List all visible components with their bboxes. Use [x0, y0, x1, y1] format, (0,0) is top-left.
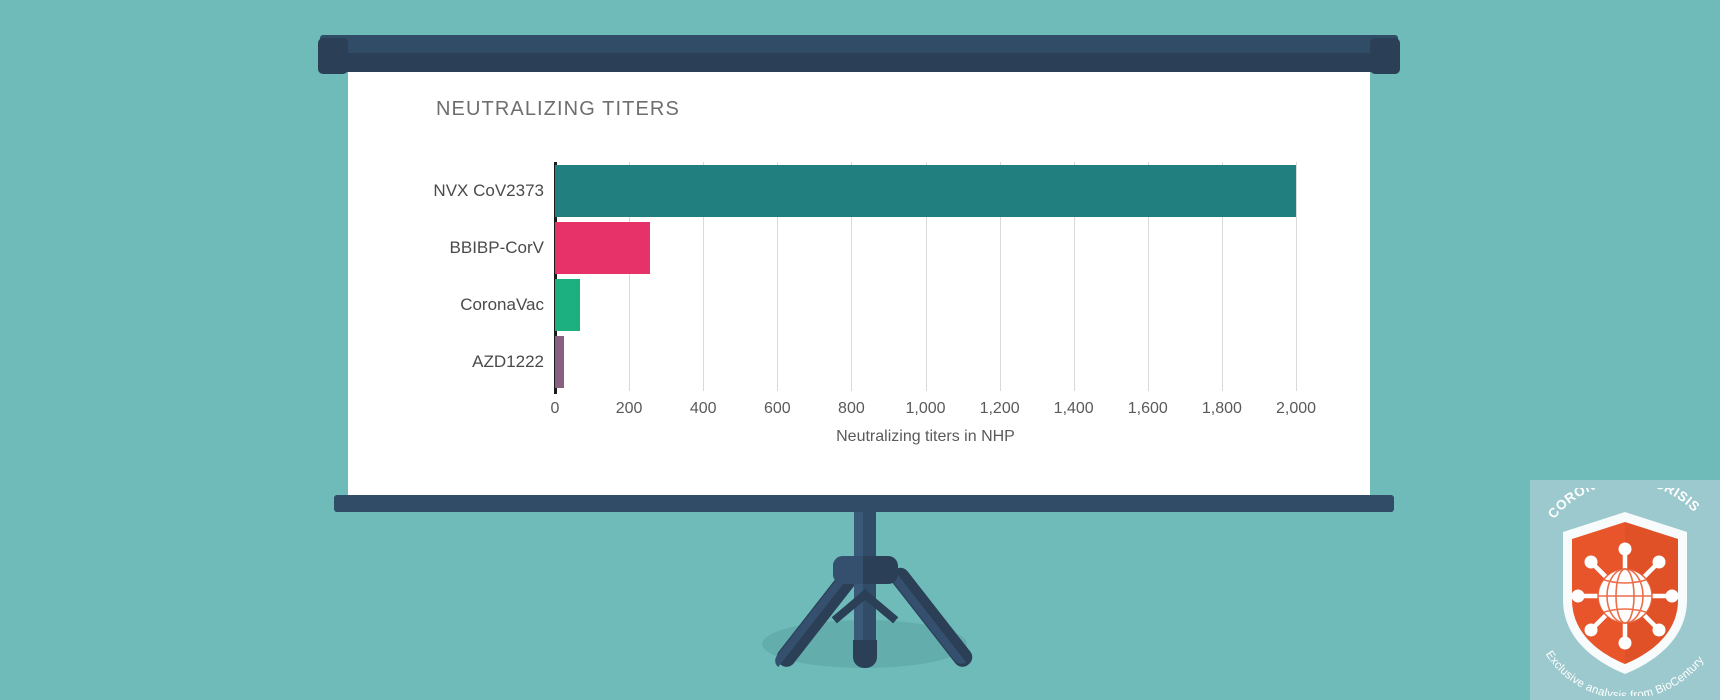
- bar-chart: NEUTRALIZING TITERS NVX CoV2373BBIBP-Cor…: [348, 70, 1370, 495]
- bar-row: [555, 279, 1296, 331]
- bar-row: [555, 222, 1296, 274]
- plot-area: [555, 162, 1296, 391]
- bar-nvx-cov2373[interactable]: [555, 165, 1296, 217]
- y-axis-label: NVX CoV2373: [433, 181, 544, 201]
- bar-bbibp-corv[interactable]: [555, 222, 650, 274]
- y-axis-label: CoronaVac: [460, 295, 544, 315]
- gridline: [1296, 162, 1297, 391]
- badge-subtitle: Exclusive analysis from BioCentury: [1530, 640, 1720, 696]
- x-axis-tick: 1,400: [1054, 400, 1094, 418]
- bar-coronavac[interactable]: [555, 279, 580, 331]
- chart-title: NEUTRALIZING TITERS: [436, 98, 680, 121]
- x-axis-tick: 400: [690, 400, 717, 418]
- svg-text:Exclusive analysis from BioCen: Exclusive analysis from BioCentury: [1543, 649, 1707, 696]
- x-axis-tick: 1,800: [1202, 400, 1242, 418]
- x-axis-tick: 1,600: [1128, 400, 1168, 418]
- x-axis-tick: 600: [764, 400, 791, 418]
- bar-row: [555, 165, 1296, 217]
- x-axis-tick: 1,200: [980, 400, 1020, 418]
- coronavirus-crisis-badge: CORONAVIRUS CRISIS: [1530, 480, 1720, 700]
- y-axis-label: AZD1222: [472, 352, 544, 372]
- x-axis-tick: 0: [551, 400, 560, 418]
- x-axis-title: Neutralizing titers in NHP: [555, 428, 1296, 446]
- screen-roller-cap-left: [318, 38, 348, 74]
- x-axis-tick: 200: [616, 400, 643, 418]
- x-axis-tick: 1,000: [905, 400, 945, 418]
- x-axis-tick-labels: 02004006008001,0001,2001,4001,6001,8002,…: [555, 400, 1296, 424]
- x-axis-tick: 2,000: [1276, 400, 1316, 418]
- screen-bottom-bar: [334, 495, 1394, 512]
- y-axis-labels: NVX CoV2373BBIBP-CorVCoronaVacAZD1222: [348, 162, 544, 391]
- screen-roller-cap-right: [1370, 38, 1400, 74]
- tripod-hub-highlight: [833, 556, 863, 584]
- bar-row: [555, 336, 1296, 388]
- x-axis-tick: 800: [838, 400, 865, 418]
- y-axis-label: BBIBP-CorV: [450, 238, 544, 258]
- tripod-center-foot: [853, 640, 877, 668]
- bar-azd1222[interactable]: [555, 336, 564, 388]
